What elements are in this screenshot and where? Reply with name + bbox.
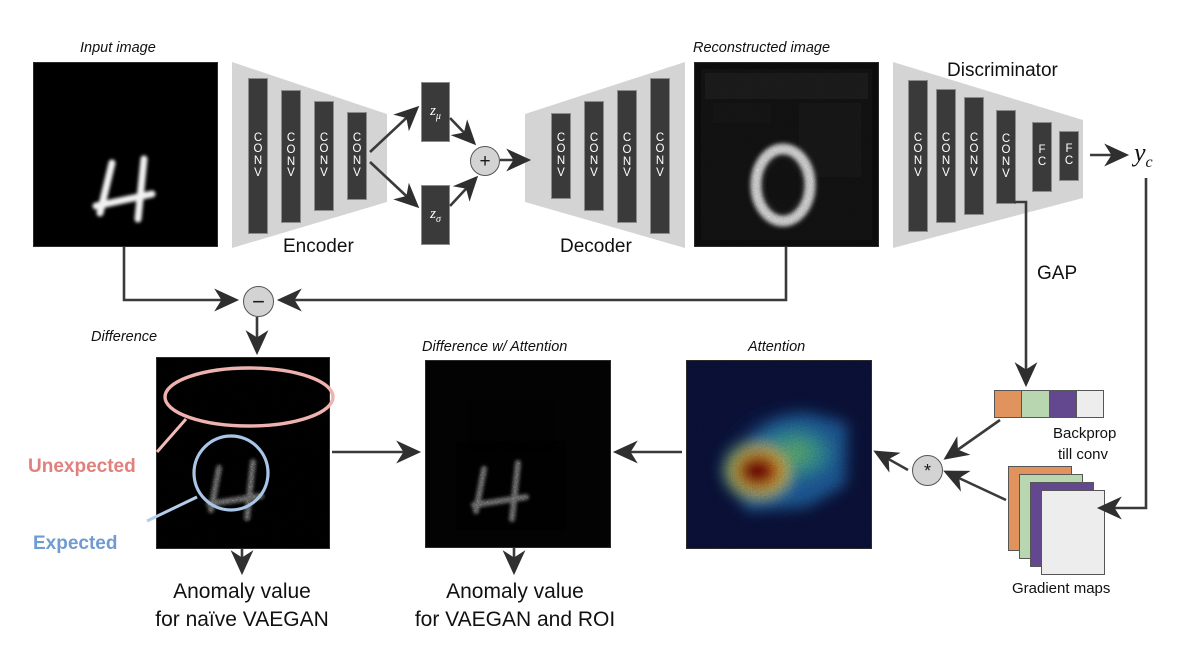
expected-highlight-circle: [194, 436, 268, 510]
figure-canvas: Input image CONV CONV CONV CONV Encoder: [0, 0, 1200, 654]
unexpected-highlight-ellipse: [165, 368, 333, 426]
expected-leader-line: [147, 497, 197, 521]
connector-overlay: [0, 0, 1200, 654]
unexpected-leader-line: [157, 419, 186, 452]
